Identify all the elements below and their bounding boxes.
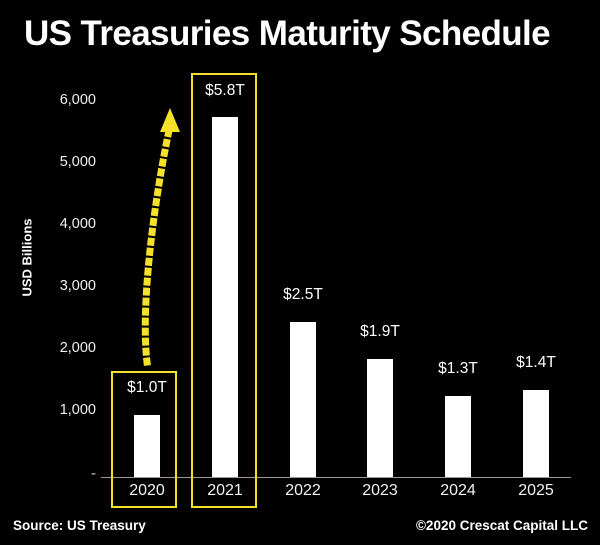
y-tick-2000: 2,000 <box>28 340 96 356</box>
y-tick-3000: 3,000 <box>28 278 96 294</box>
highlight-box-2021 <box>191 73 257 508</box>
y-tick-4000: 4,000 <box>28 216 96 232</box>
bar-label-2024: $1.3T <box>418 360 498 378</box>
bar-2022 <box>290 322 316 477</box>
copyright-note: ©2020 Crescat Capital LLC <box>416 518 588 533</box>
x-tick-2025: 2025 <box>496 482 576 500</box>
chart-root: US Treasuries Maturity Schedule USD Bill… <box>0 0 600 545</box>
y-tick-5000: 5,000 <box>28 154 96 170</box>
x-tick-2022: 2022 <box>263 482 343 500</box>
source-note: Source: US Treasury <box>13 518 146 533</box>
bar-2023 <box>367 359 393 477</box>
bar-label-2022: $2.5T <box>263 286 343 304</box>
plot-area: USD Billions 6,000 5,000 4,000 3,000 2,0… <box>0 0 600 545</box>
x-tick-2024: 2024 <box>418 482 498 500</box>
y-tick-6000: 6,000 <box>28 92 96 108</box>
bar-2024 <box>445 396 471 477</box>
bar-label-2023: $1.9T <box>340 323 420 341</box>
growth-arrow-icon <box>120 100 200 380</box>
y-tick-zero: - <box>28 465 96 482</box>
highlight-box-2020 <box>111 371 177 508</box>
x-tick-2023: 2023 <box>340 482 420 500</box>
bar-label-2025: $1.4T <box>496 354 576 372</box>
y-tick-1000: 1,000 <box>28 402 96 418</box>
bar-2025 <box>523 390 549 477</box>
